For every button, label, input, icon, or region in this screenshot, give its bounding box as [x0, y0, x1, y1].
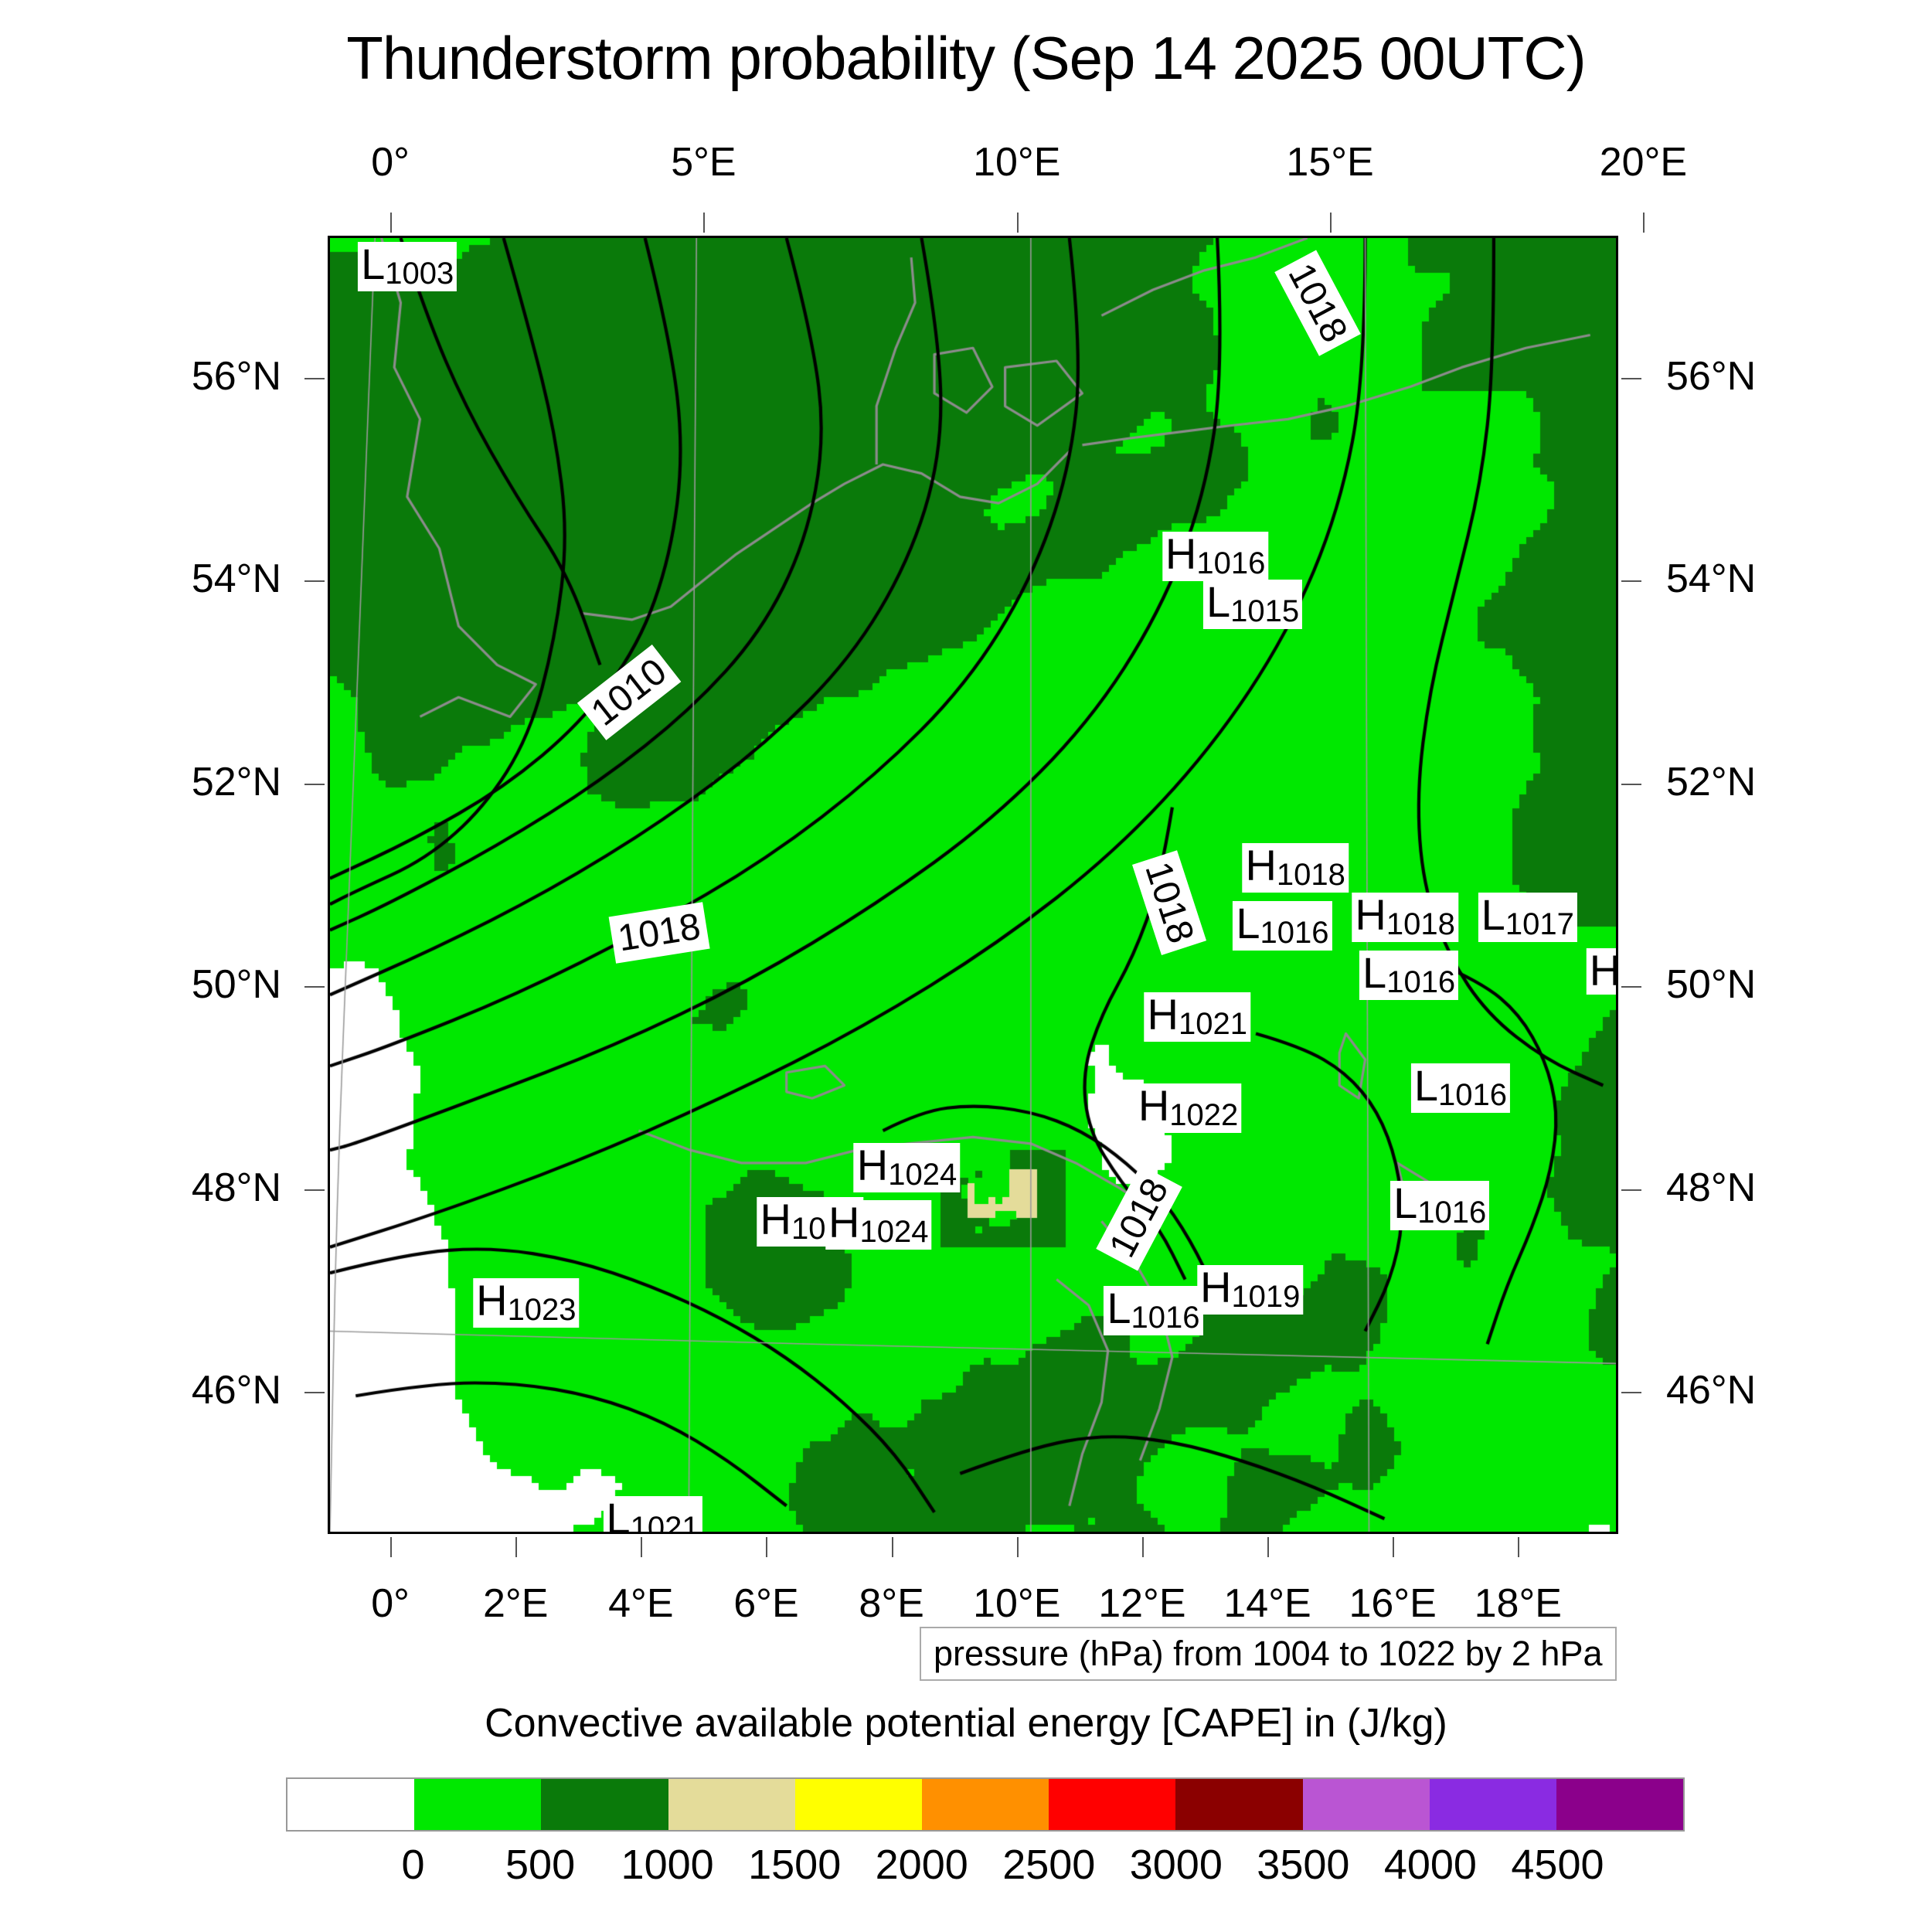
tick-left-3 — [304, 986, 325, 988]
pressure-marker-type: L — [361, 240, 385, 288]
pressure-marker-value: 1024 — [888, 1158, 957, 1192]
pressure-marker-value: 1023 — [508, 1293, 577, 1327]
colorbar-bin-1000-1500 — [668, 1779, 795, 1830]
colorbar-bin-3500-4000 — [1303, 1779, 1430, 1830]
pressure-marker-type: L — [1236, 899, 1260, 947]
tick-left-1 — [304, 580, 325, 582]
longitude-label-bottom-8: 16°E — [1349, 1580, 1436, 1627]
colorbar-tick-4500: 4500 — [1511, 1841, 1604, 1889]
latitude-label-left-2: 52°N — [192, 759, 281, 805]
pressure-marker-h-9: H1021 — [1145, 992, 1250, 1042]
pressure-marker-type: H — [1355, 890, 1386, 939]
latitude-label-left-4: 48°N — [192, 1165, 281, 1211]
latitude-label-right-3: 50°N — [1666, 961, 1756, 1008]
page-title: Thunderstorm probability (Sep 14 2025 00… — [0, 23, 1932, 94]
pressure-marker-h-3: H1018 — [1242, 843, 1348, 893]
tick-right-4 — [1621, 1189, 1641, 1191]
latitude-label-left-3: 50°N — [192, 961, 281, 1008]
longitude-label-bottom-7: 14°E — [1223, 1580, 1311, 1627]
tick-bottom-1 — [515, 1537, 517, 1557]
longitude-label-bottom-5: 10°E — [973, 1580, 1060, 1627]
pressure-marker-type: H — [760, 1195, 791, 1243]
pressure-marker-value: 1003 — [385, 257, 454, 291]
pressure-marker-value: 1016 — [1196, 546, 1265, 580]
colorbar-tick-3000: 3000 — [1130, 1841, 1223, 1889]
pressure-marker-value: 1016 — [1417, 1196, 1486, 1230]
colorbar-bin-500-1000 — [541, 1779, 668, 1830]
latitude-label-right-1: 54°N — [1666, 556, 1756, 602]
pressure-marker-l-17: L1016 — [1104, 1286, 1202, 1335]
pressure-marker-h-1: H1016 — [1162, 532, 1268, 581]
map-plot-area[interactable]: L1003H1016L1015H1018L1016H1018L1017HL101… — [328, 236, 1618, 1534]
tick-left-0 — [304, 378, 325, 379]
pressure-marker-h-16: H1023 — [473, 1278, 579, 1328]
cape-colorbar[interactable] — [286, 1777, 1685, 1832]
tick-left-2 — [304, 784, 325, 785]
tick-bottom-6 — [1142, 1537, 1144, 1557]
pressure-marker-type: L — [606, 1494, 630, 1534]
longitude-label-bottom-9: 18°E — [1475, 1580, 1562, 1627]
pressure-marker-h-15: H1024 — [825, 1200, 931, 1250]
colorbar-bin-0-500 — [414, 1779, 541, 1830]
pressure-marker-type: H — [1148, 990, 1179, 1039]
pressure-marker-value: 1018 — [1277, 858, 1345, 892]
colorbar-bin-2500-3000 — [1049, 1779, 1175, 1830]
pressure-marker-type: H — [857, 1141, 888, 1189]
tick-bottom-8 — [1393, 1537, 1394, 1557]
tick-top-0 — [390, 213, 392, 233]
longitude-label-top-3: 15°E — [1286, 139, 1373, 185]
pressure-marker-type: L — [1414, 1061, 1438, 1110]
latitude-label-right-5: 46°N — [1666, 1367, 1756, 1413]
pressure-marker-l-12: L1016 — [1390, 1181, 1489, 1230]
pressure-marker-type: L — [1107, 1284, 1131, 1332]
longitude-label-bottom-2: 4°E — [608, 1580, 673, 1627]
tick-bottom-0 — [390, 1537, 392, 1557]
longitude-label-bottom-3: 6°E — [733, 1580, 798, 1627]
pressure-marker-l-0: L1003 — [358, 242, 457, 291]
pressure-marker-value: 1015 — [1230, 594, 1299, 628]
pressure-marker-h-13: H1024 — [854, 1143, 960, 1192]
colorbar-tick-1500: 1500 — [748, 1841, 841, 1889]
tick-bottom-2 — [641, 1537, 642, 1557]
pressure-marker-type: L — [1206, 577, 1230, 626]
longitude-label-bottom-0: 0° — [371, 1580, 410, 1627]
colorbar-tick-1000: 1000 — [621, 1841, 714, 1889]
longitude-label-bottom-4: 8°E — [859, 1580, 923, 1627]
colorbar-bin-4000-4500 — [1430, 1779, 1556, 1830]
pressure-marker-h-10: H1022 — [1135, 1083, 1241, 1133]
pressure-marker-value: 1017 — [1505, 907, 1574, 941]
latitude-label-left-1: 54°N — [192, 556, 281, 602]
longitude-label-top-1: 5°E — [671, 139, 736, 185]
tick-bottom-3 — [766, 1537, 767, 1557]
pressure-marker-l-6: L1017 — [1478, 893, 1577, 942]
colorbar-bin-below-0 — [287, 1779, 414, 1830]
tick-bottom-7 — [1267, 1537, 1269, 1557]
tick-top-3 — [1330, 213, 1332, 233]
pressure-marker-l-4: L1016 — [1233, 901, 1332, 951]
latitude-label-left-0: 56°N — [192, 353, 281, 400]
latitude-label-left-5: 46°N — [192, 1367, 281, 1413]
pressure-marker-l-19: L1021 — [603, 1496, 702, 1534]
tick-right-1 — [1621, 580, 1641, 582]
pressure-marker-type: L — [1393, 1179, 1417, 1227]
pressure-marker-value: 1016 — [1438, 1078, 1507, 1112]
latitude-label-right-0: 56°N — [1666, 353, 1756, 400]
latitude-label-right-2: 52°N — [1666, 759, 1756, 805]
colorbar-tick-0: 0 — [402, 1841, 425, 1889]
tick-bottom-5 — [1017, 1537, 1019, 1557]
pressure-contour-note: pressure (hPa) from 1004 to 1022 by 2 hP… — [920, 1627, 1617, 1681]
tick-right-2 — [1621, 784, 1641, 785]
colorbar-tick-500: 500 — [505, 1841, 575, 1889]
tick-bottom-4 — [892, 1537, 893, 1557]
tick-right-5 — [1621, 1392, 1641, 1393]
pressure-marker-type: H — [1165, 529, 1196, 578]
tick-right-3 — [1621, 986, 1641, 988]
pressure-marker-value: 1016 — [1131, 1301, 1200, 1335]
tick-left-4 — [304, 1189, 325, 1191]
latitude-label-right-4: 48°N — [1666, 1165, 1756, 1211]
longitude-label-top-2: 10°E — [973, 139, 1060, 185]
cape-field-heatmap — [330, 238, 1616, 1532]
pressure-marker-value: 1022 — [1169, 1098, 1238, 1132]
pressure-marker-value: 1016 — [1386, 965, 1455, 999]
pressure-marker-value: 1019 — [1231, 1280, 1300, 1314]
pressure-marker-value: 1021 — [631, 1511, 699, 1534]
colorbar-bin-1500-2000 — [795, 1779, 922, 1830]
longitude-label-top-0: 0° — [371, 139, 410, 185]
pressure-marker-h-7: H — [1587, 948, 1618, 995]
tick-top-1 — [703, 213, 705, 233]
pressure-marker-l-8: L1016 — [1359, 951, 1458, 1000]
pressure-marker-type: H — [1245, 841, 1276, 889]
colorbar-tick-2000: 2000 — [876, 1841, 968, 1889]
longitude-label-bottom-6: 12°E — [1098, 1580, 1185, 1627]
colorbar-bin-2000-2500 — [922, 1779, 1049, 1830]
colorbar-title: Convective available potential energy [C… — [0, 1700, 1932, 1747]
tick-left-5 — [304, 1392, 325, 1393]
pressure-marker-type: H — [1200, 1263, 1231, 1311]
pressure-marker-type: H — [476, 1276, 507, 1325]
pressure-marker-h-18: H1019 — [1197, 1265, 1303, 1315]
pressure-marker-type: L — [1481, 890, 1505, 939]
colorbar-tick-labels: 050010001500200025003000350040004500 — [286, 1841, 1685, 1895]
colorbar-tick-2500: 2500 — [1002, 1841, 1095, 1889]
tick-top-2 — [1017, 213, 1019, 233]
pressure-marker-type: H — [1590, 946, 1618, 995]
tick-bottom-9 — [1518, 1537, 1519, 1557]
colorbar-bin-3000-3500 — [1175, 1779, 1302, 1830]
pressure-marker-value: 1024 — [859, 1215, 928, 1249]
longitude-label-top-4: 20°E — [1600, 139, 1687, 185]
pressure-marker-type: H — [828, 1198, 859, 1247]
tick-top-4 — [1643, 213, 1645, 233]
colorbar-bin-above-4500 — [1556, 1779, 1683, 1830]
colorbar-tick-3500: 3500 — [1257, 1841, 1349, 1889]
longitude-label-bottom-1: 2°E — [483, 1580, 548, 1627]
pressure-marker-l-2: L1015 — [1203, 580, 1302, 629]
pressure-marker-value: 1018 — [1386, 907, 1455, 941]
pressure-marker-value: 1021 — [1179, 1007, 1247, 1041]
pressure-marker-type: L — [1362, 948, 1386, 997]
colorbar-tick-4000: 4000 — [1384, 1841, 1477, 1889]
tick-right-0 — [1621, 378, 1641, 379]
pressure-marker-l-11: L1016 — [1411, 1063, 1510, 1113]
pressure-marker-type: H — [1138, 1081, 1169, 1130]
pressure-marker-value: 1016 — [1260, 916, 1329, 950]
pressure-marker-h-5: H1018 — [1352, 893, 1458, 942]
